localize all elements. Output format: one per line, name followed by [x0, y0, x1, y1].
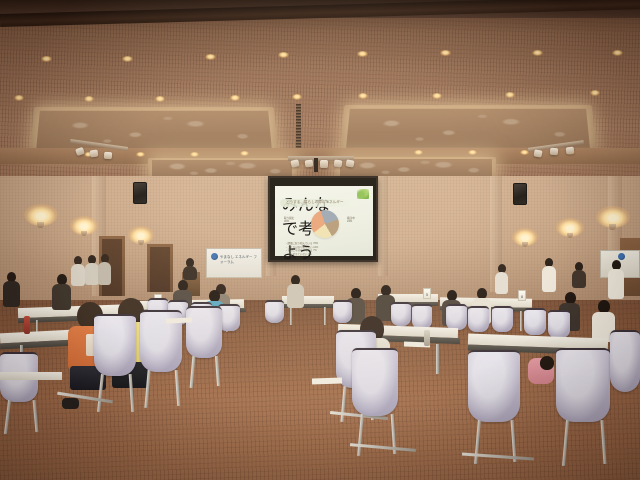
- table-number-card: 5: [423, 288, 431, 299]
- track-spotlight: [104, 152, 112, 160]
- track-spotlight: [533, 149, 542, 157]
- recessed-downlight: [136, 152, 145, 157]
- ceiling-light-panel-front-right: [340, 159, 492, 176]
- recessed-downlight: [590, 90, 600, 96]
- ceiling-light-panel-right: [346, 109, 590, 148]
- track-spotlight: [566, 147, 575, 155]
- wall-pilaster: [378, 176, 388, 276]
- ceiling-vent: [296, 104, 301, 148]
- recessed-downlight: [205, 54, 216, 60]
- side-door-center-panel[interactable]: [150, 247, 170, 292]
- ceiling-light-panel-left: [36, 111, 272, 150]
- stacking-chair[interactable]: [446, 304, 467, 330]
- recessed-downlight: [292, 94, 302, 100]
- seated-attendee-head: [540, 356, 554, 370]
- tabletop-bottle: [424, 330, 430, 346]
- photo-scene: みんなで考えよう どうする、暮らしの中のエネルギー 取り組む 30% 検討中 2…: [0, 0, 640, 480]
- recessed-downlight: [190, 152, 199, 157]
- recessed-downlight: [357, 51, 368, 57]
- stacking-chair[interactable]: [94, 314, 136, 376]
- whiteboard-logo-icon: [618, 253, 625, 260]
- projection-screen-frame: みんなで考えよう どうする、暮らしの中のエネルギー 取り組む 30% 検討中 2…: [268, 176, 378, 262]
- stacking-chair[interactable]: [610, 330, 640, 392]
- stacking-chair[interactable]: [468, 350, 520, 422]
- projector-mount: [314, 158, 318, 172]
- recessed-downlight: [414, 150, 423, 155]
- seated-attendee-body: [52, 284, 71, 310]
- stacking-chair[interactable]: [556, 348, 610, 422]
- wall-speaker-left: [133, 182, 147, 204]
- wall-speaker-right: [513, 183, 527, 205]
- track-spotlight: [550, 148, 558, 156]
- recessed-downlight: [84, 96, 94, 102]
- recessed-downlight: [230, 95, 240, 101]
- stacking-chair[interactable]: [412, 304, 432, 329]
- ceiling-light-panel-front-left: [152, 160, 292, 177]
- organization-logo-icon: [211, 253, 218, 260]
- stacking-chair[interactable]: [352, 348, 398, 416]
- pie-chart: [311, 210, 339, 238]
- attendee-body: [495, 272, 508, 294]
- stacking-chair[interactable]: [265, 300, 284, 323]
- track-spotlight: [305, 160, 314, 168]
- presenter-right-body: [572, 270, 586, 288]
- banquet-table-foreground-cloth: [0, 372, 62, 380]
- slide-note-4: ・特に考えていない 3%: [285, 253, 312, 256]
- projection-screen: みんなで考えよう どうする、暮らしの中のエネルギー 取り組む 30% 検討中 2…: [275, 186, 373, 256]
- pie-label-right: 検討中 24%: [347, 217, 367, 224]
- slide-subtitle: どうする、暮らしの中のエネルギー: [286, 200, 356, 205]
- eco-leaf-icon: [357, 189, 369, 199]
- wall-sconce: [37, 222, 44, 228]
- track-spotlight: [90, 149, 99, 157]
- recessed-downlight: [240, 151, 249, 156]
- stacking-chair[interactable]: [524, 308, 546, 335]
- table-leg: [436, 344, 439, 374]
- table-leg: [520, 311, 522, 331]
- recessed-downlight: [532, 50, 543, 56]
- recessed-downlight: [432, 93, 442, 99]
- recessed-downlight: [358, 93, 368, 99]
- pie-label-left: 取り組む 30%: [284, 217, 304, 224]
- child-orange-shoe: [62, 398, 79, 409]
- stacking-chair[interactable]: [492, 306, 513, 332]
- track-spotlight: [334, 160, 343, 168]
- stacking-chair[interactable]: [391, 302, 411, 326]
- recessed-downlight: [612, 50, 623, 56]
- attendee-body: [542, 266, 556, 292]
- table-number-card: 8: [518, 290, 526, 301]
- recessed-downlight: [468, 150, 477, 155]
- stacking-chair[interactable]: [186, 306, 222, 358]
- attendee-body: [85, 263, 99, 285]
- banner-text: やまなし エネルギー フォーラム: [220, 254, 260, 264]
- recessed-downlight: [41, 56, 52, 62]
- stacking-chair[interactable]: [468, 306, 489, 332]
- table-leg: [290, 307, 292, 325]
- attendee-body: [608, 269, 624, 299]
- recessed-downlight: [440, 50, 451, 56]
- tabletop-bottle: [24, 316, 30, 334]
- recessed-downlight: [505, 92, 515, 98]
- recessed-downlight: [122, 56, 133, 62]
- track-spotlight: [345, 159, 354, 167]
- tabletop-paper: [312, 377, 342, 384]
- stacking-chair[interactable]: [548, 310, 570, 338]
- attendee-body: [71, 264, 85, 286]
- stacking-chair[interactable]: [333, 300, 352, 323]
- recessed-downlight: [14, 95, 24, 101]
- recessed-downlight: [278, 52, 289, 58]
- wall-sconce: [609, 224, 616, 230]
- recessed-downlight: [155, 96, 165, 102]
- table-leg: [324, 307, 326, 325]
- seated-attendee-body: [3, 281, 20, 307]
- attendee-body: [98, 262, 111, 285]
- presenter-body: [183, 266, 197, 280]
- seated-attendee-body: [287, 284, 304, 308]
- track-spotlight: [320, 160, 328, 168]
